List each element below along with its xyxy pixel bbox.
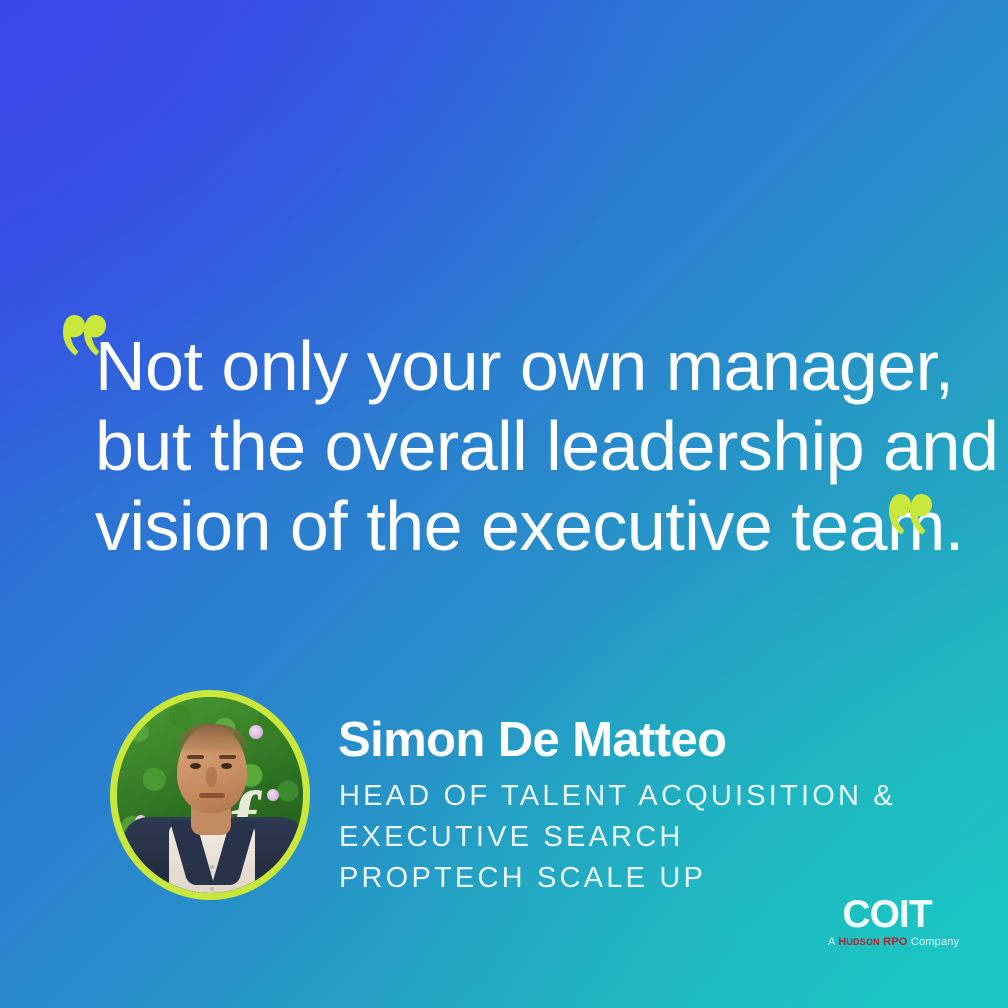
eyebrow-right bbox=[219, 755, 236, 759]
shirt-button bbox=[210, 887, 214, 891]
close-quote-mark bbox=[886, 492, 932, 538]
eye-right bbox=[221, 763, 232, 769]
logo: COIT A HUDSON RPO Company bbox=[828, 896, 946, 949]
avatar-person bbox=[117, 697, 303, 893]
logo-tagline: A HUDSON RPO Company bbox=[828, 936, 946, 949]
logo-tagline-suffix: Company bbox=[908, 936, 960, 948]
avatar: a f s bbox=[110, 690, 310, 900]
role-line-1: HEAD OF TALENT ACQUISITION & bbox=[339, 776, 896, 817]
quote-line-1: Not only your own manager, bbox=[95, 326, 975, 406]
quote-text: Not only your own manager, but the overa… bbox=[95, 326, 975, 566]
eyebrow-left bbox=[187, 755, 204, 759]
logo-wordmark: COIT bbox=[828, 896, 946, 934]
mouth bbox=[199, 793, 225, 798]
logo-brand-rpo: RPO bbox=[880, 936, 908, 948]
logo-tagline-brand: HUDSON RPO bbox=[838, 936, 907, 948]
avatar-photo: a f s bbox=[117, 697, 303, 893]
quote-line-3: vision of the executive team. bbox=[95, 486, 975, 566]
hairline bbox=[177, 724, 247, 754]
shirt-button bbox=[210, 865, 214, 869]
logo-tagline-prefix: A bbox=[828, 936, 838, 948]
quote-card: Not only your own manager, but the overa… bbox=[0, 0, 1008, 1008]
person-name: Simon De Matteo bbox=[338, 712, 726, 768]
nose bbox=[206, 767, 217, 787]
logo-brand-rest: UDSON bbox=[846, 937, 880, 947]
role-line-3: PROPTECH SCALE UP bbox=[339, 858, 896, 899]
quote-line-2: but the overall leadership and bbox=[95, 406, 975, 486]
role-line-2: EXECUTIVE SEARCH bbox=[339, 817, 896, 858]
person-role: HEAD OF TALENT ACQUISITION & EXECUTIVE S… bbox=[339, 776, 896, 899]
eye-left bbox=[190, 763, 201, 769]
